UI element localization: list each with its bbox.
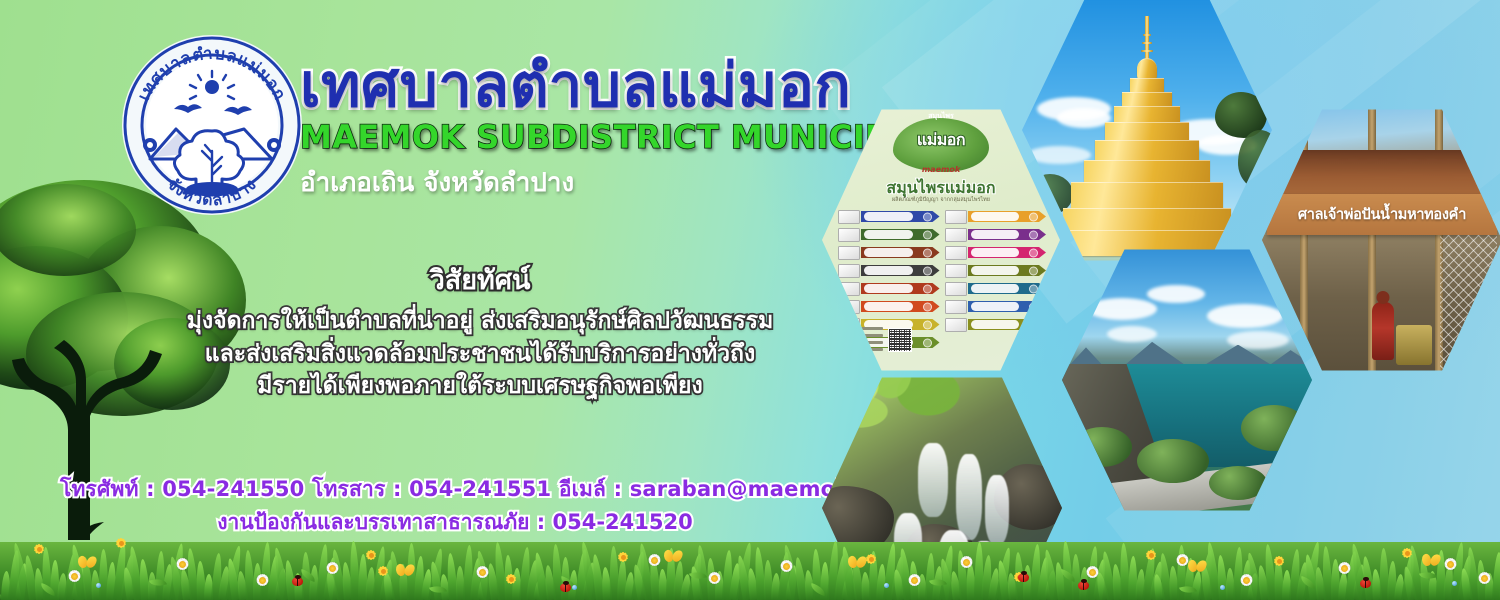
grass-blade xyxy=(1198,550,1215,600)
herb-product-box-icon xyxy=(945,300,967,314)
grass-blade xyxy=(519,547,532,600)
grass-blade xyxy=(1042,549,1060,600)
herb-product-item xyxy=(945,263,1047,278)
grass-blade xyxy=(1168,566,1179,600)
yellow-flower xyxy=(500,568,522,590)
grass-blade xyxy=(1387,561,1397,600)
grass-blade xyxy=(1247,573,1260,600)
grass-blade xyxy=(11,542,31,600)
grass-blade xyxy=(666,548,676,600)
grass-blade xyxy=(272,547,290,600)
shrine-sign-board: ศาลเจ้าพ่อปันน้ำมหาทองคำ xyxy=(1267,194,1497,235)
grass-blade xyxy=(609,546,619,600)
grass-blade xyxy=(1274,557,1284,600)
pagoda-caption-line-3: อำเภอ xyxy=(1236,38,1268,52)
herb-product-box-icon xyxy=(945,210,967,224)
grass-blade xyxy=(568,570,579,600)
grass-blade xyxy=(785,565,799,600)
grass-blade xyxy=(1394,574,1405,600)
grass-blade xyxy=(811,549,822,600)
grass-blade xyxy=(1459,568,1473,600)
herb-product-bar xyxy=(968,247,1047,258)
grass-blade xyxy=(196,561,206,600)
grass-blade xyxy=(41,547,52,600)
grass-blade xyxy=(1037,557,1050,600)
grass-blade xyxy=(283,560,297,600)
grass-blade xyxy=(211,553,223,600)
grass-blade xyxy=(236,571,248,600)
grass-blade xyxy=(138,559,150,600)
grass-blade xyxy=(1053,562,1067,600)
contact-phone-fax-email[interactable]: โทรศัพท์ : 054-241550 โทรสาร : 054-24155… xyxy=(60,473,850,506)
grass-blade xyxy=(475,550,493,600)
herb-product-box-icon xyxy=(945,318,967,332)
qr-code-icon[interactable] xyxy=(888,328,912,352)
grass-blade xyxy=(1371,569,1382,600)
pagoda-caption-line-1: วัดท xyxy=(1236,0,1268,23)
grass-blade xyxy=(99,549,108,600)
grass-blade xyxy=(414,556,425,600)
grass-blade xyxy=(1149,561,1165,600)
herb-product-item xyxy=(945,317,1047,332)
grass-blade xyxy=(204,574,213,600)
grass-blade xyxy=(477,571,490,600)
herb-brand-small: สมุนไพร xyxy=(893,111,989,122)
grass-blade xyxy=(90,570,101,600)
grass-leaf xyxy=(1299,576,1317,589)
daisy-flower xyxy=(1168,546,1196,574)
herb-product-box-icon xyxy=(945,282,967,296)
vision-line-1: มุ่งจัดการให้เป็นตำบลที่น่าอยู่ ส่งเสริม… xyxy=(150,305,810,338)
grass-blade xyxy=(1492,552,1500,600)
grass-blade xyxy=(1361,556,1375,600)
yellow-flower xyxy=(612,546,634,568)
herb-product-bar xyxy=(861,301,940,312)
grass-blade xyxy=(1111,564,1123,600)
grass-blade xyxy=(526,560,540,600)
grass-blade xyxy=(1450,542,1466,600)
grass-blade xyxy=(803,570,815,600)
hex-reservoir-dam-photo[interactable] xyxy=(1062,244,1312,516)
grass-blade xyxy=(1457,555,1474,600)
grass-blade xyxy=(1225,568,1235,600)
herb-product-item xyxy=(945,299,1047,314)
grass-blade xyxy=(127,546,143,600)
grass-blade xyxy=(8,550,21,600)
ladybug-icon xyxy=(1360,579,1371,588)
grass-blade xyxy=(648,556,661,600)
grass-blade xyxy=(658,569,668,600)
grass-blade xyxy=(486,563,500,600)
grass-blade xyxy=(1314,567,1326,600)
grass-blade xyxy=(1095,572,1109,600)
herb-product-box-icon xyxy=(838,228,860,242)
grass-blade xyxy=(1428,571,1438,600)
herb-product-box-icon xyxy=(838,336,860,350)
grass-blade xyxy=(0,591,3,600)
grass-leaf xyxy=(299,569,317,582)
grass-blade xyxy=(722,550,734,600)
grass-blade xyxy=(533,552,549,600)
grass-leaf xyxy=(39,583,57,596)
grass-blade xyxy=(1379,548,1389,600)
grass-leaf xyxy=(429,583,447,597)
grass-blade xyxy=(106,562,117,600)
grass-blade xyxy=(1079,567,1089,600)
grass-blade xyxy=(781,544,801,600)
grass-blade xyxy=(689,566,703,600)
grass-blade xyxy=(225,558,240,600)
herb-product-bar xyxy=(968,265,1047,276)
grass-blade xyxy=(439,574,451,600)
grass-blade xyxy=(637,543,654,600)
grass-blade xyxy=(1142,548,1157,600)
daisy-flower xyxy=(640,546,668,574)
grass-blade xyxy=(1061,541,1074,600)
grass-blade xyxy=(1,571,11,600)
grass-blade xyxy=(1177,545,1186,600)
grass-blade xyxy=(365,567,376,600)
grass-blade xyxy=(624,572,635,600)
grass-blade xyxy=(778,552,791,600)
grass-blade xyxy=(71,565,86,600)
grass-blade xyxy=(428,561,444,600)
grass-blade xyxy=(1282,570,1292,600)
grass-blade xyxy=(706,558,717,600)
grass-blade xyxy=(1349,543,1368,600)
herb-product-bar xyxy=(861,247,940,258)
grass-blade xyxy=(729,563,742,600)
herb-brand-thai: แม่มอก xyxy=(893,128,989,153)
grass-blade xyxy=(631,564,647,600)
grass-blade xyxy=(121,567,136,600)
contact-block: โทรศัพท์ : 054-241550 โทรสาร : 054-24155… xyxy=(60,473,850,538)
herb-product-box-icon xyxy=(838,318,860,332)
shrine-sign-text: ศาลเจ้าพ่อปันน้ำมหาทองคำ xyxy=(1298,203,1466,226)
grass-blade xyxy=(323,557,338,600)
grass-blade xyxy=(1216,555,1228,600)
herb-product-bar xyxy=(968,283,1047,294)
grass-blade xyxy=(1296,562,1310,600)
grass-leaf xyxy=(1179,583,1197,597)
municipality-banner: เทศบาลตำบลแม่มอก จังหวัดลำปาง เทศบาลตำบล… xyxy=(0,0,1500,600)
herb-poster-subtitle: ผลิตภัณฑ์ภูมิปัญญา จากกลุ่มสมุนไพรไทย xyxy=(822,196,1060,204)
grass-blade xyxy=(293,573,304,600)
grass-leaf xyxy=(1059,569,1077,582)
herb-product-box-icon xyxy=(838,246,860,260)
grass-blade xyxy=(69,544,87,600)
herb-product-box-icon xyxy=(838,300,860,314)
herb-product-item xyxy=(945,281,1047,296)
vision-line-2: และส่งเสริมสิ่งแวดล้อมประชาชนได้รับบริกา… xyxy=(150,338,810,371)
grass-blade xyxy=(1331,559,1340,600)
grass-blade xyxy=(1485,573,1494,600)
vision-heading: วิสัยทัศน์ xyxy=(150,258,810,301)
grass-blade xyxy=(330,549,346,600)
grass-blade xyxy=(1086,546,1100,600)
municipal-seal-logo: เทศบาลตำบลแม่มอก จังหวัดลำปาง xyxy=(120,33,304,217)
daisy-flower xyxy=(772,552,800,580)
herb-product-bar xyxy=(861,283,940,294)
grass-blade xyxy=(715,571,724,600)
daisy-flower xyxy=(1232,566,1260,594)
grass-blade xyxy=(1240,560,1252,600)
herb-product-item xyxy=(838,263,940,278)
yellow-flower xyxy=(360,544,382,566)
grass-blade xyxy=(561,557,570,600)
grass-blade xyxy=(1128,556,1138,600)
daisy-flower xyxy=(700,564,728,592)
grass-blade xyxy=(763,560,773,600)
grass-blade xyxy=(57,573,68,600)
grass-blade xyxy=(155,551,166,600)
grass-blade xyxy=(349,541,360,600)
grass-blade xyxy=(1135,569,1146,600)
daisy-flower xyxy=(60,562,88,590)
grass-blade xyxy=(680,574,692,600)
grass-blade xyxy=(582,562,597,600)
grass-blade xyxy=(274,568,288,600)
daisy-flower xyxy=(1470,564,1498,592)
ladybug-icon xyxy=(1078,581,1089,590)
grass-blade xyxy=(1436,550,1446,600)
herb-product-item xyxy=(945,209,1047,224)
grass-blade xyxy=(601,567,612,600)
grass-blade xyxy=(185,548,198,600)
grass-blade xyxy=(1303,554,1319,600)
grass-blade xyxy=(533,573,547,600)
herb-product-box-icon xyxy=(838,210,860,224)
vision-block: วิสัยทัศน์ มุ่งจัดการให้เป็นตำบลที่น่าอย… xyxy=(150,258,810,403)
herb-product-item xyxy=(945,245,1047,260)
grass-blade xyxy=(398,564,409,600)
grass-blade xyxy=(503,555,514,600)
grass-blade xyxy=(1407,545,1424,600)
grass-blade xyxy=(1321,546,1333,600)
grass-blade xyxy=(1345,551,1359,600)
ladybug-icon xyxy=(560,583,571,592)
grass-blade xyxy=(15,563,29,600)
grass-blade xyxy=(50,560,60,600)
ladybug-icon xyxy=(292,577,303,586)
yellow-flower xyxy=(1140,544,1162,566)
grass-blade xyxy=(590,554,605,600)
grass-blade xyxy=(1233,547,1244,600)
grass-blade xyxy=(820,562,830,600)
grass-blade xyxy=(1418,558,1431,600)
daisy-flower xyxy=(168,550,196,578)
grass-blade xyxy=(1152,574,1165,600)
grass-blade xyxy=(470,558,483,600)
grass-blade xyxy=(746,568,759,600)
grass-blade xyxy=(1443,563,1455,600)
grass-blade xyxy=(1476,560,1487,600)
contact-emergency[interactable]: งานป้องกันและบรรเทาสาธารณภัย : 054-24152… xyxy=(60,506,850,539)
herb-product-item xyxy=(838,299,940,314)
grass-blade xyxy=(1044,570,1058,600)
herb-product-bar xyxy=(968,319,1047,330)
grass-blade xyxy=(341,562,353,600)
herb-product-bar xyxy=(968,229,1047,240)
grass-blade xyxy=(1245,552,1263,600)
grass-blade xyxy=(1263,544,1277,600)
grass-blade xyxy=(1352,564,1367,600)
grass-leaf xyxy=(1419,569,1437,583)
herb-product-box-icon xyxy=(945,228,967,242)
grass-blade xyxy=(253,563,262,600)
grass-blade xyxy=(23,555,38,600)
grass-blade xyxy=(631,551,647,600)
organization-title-thai: เทศบาลตำบลแม่มอก xyxy=(300,56,960,117)
yellow-flower xyxy=(372,560,394,582)
grass-blade xyxy=(771,573,781,600)
grass-blade xyxy=(382,572,395,600)
grass-blade xyxy=(421,569,433,600)
hex-spirit-shrine-photo[interactable]: ศาลเจ้าพ่อปันน้ำมหาทองคำ xyxy=(1262,104,1500,376)
grass-blade xyxy=(512,568,522,600)
grass-leaf xyxy=(149,576,167,590)
grass-blade xyxy=(316,544,330,600)
grass-blade xyxy=(551,544,563,600)
herb-product-box-icon xyxy=(945,264,967,278)
herb-product-box-icon xyxy=(838,264,860,278)
herb-poster-footer xyxy=(850,326,912,352)
grass-blade xyxy=(753,547,766,600)
vision-line-3: มีรายได้เพียงพอภายใต้ระบบเศรษฐกิจพอเพียง xyxy=(150,370,810,403)
grass-blade xyxy=(673,561,685,600)
herb-product-bar xyxy=(968,301,1047,312)
yellow-flower xyxy=(28,538,50,560)
dew-drop xyxy=(96,583,101,588)
grass-blade xyxy=(225,545,243,600)
grass-blade xyxy=(1100,551,1116,600)
grass-blade xyxy=(407,543,416,600)
grass-leaf xyxy=(809,583,827,596)
dew-drop xyxy=(1220,585,1225,590)
grass-blade xyxy=(455,566,465,600)
daisy-flower xyxy=(468,558,496,586)
yellow-flower xyxy=(1268,550,1290,572)
grass-blade xyxy=(120,554,136,600)
grass-blade xyxy=(793,557,808,600)
grass-blade xyxy=(463,545,474,600)
grass-blade xyxy=(243,550,255,600)
hex-golden-pagoda-photo[interactable]: วัดท บ้านกุ่ม อำเภอ xyxy=(1022,0,1272,266)
yellow-flower xyxy=(1396,542,1418,564)
daisy-flower xyxy=(1330,554,1358,582)
grass-blade xyxy=(324,570,339,600)
organization-title-english: MAEMOK SUBDISTRICT MUNICIPALITY xyxy=(300,118,960,156)
herb-product-bar xyxy=(861,265,940,276)
herb-product-item xyxy=(838,209,940,224)
dew-drop xyxy=(1452,581,1457,586)
hex-waterfall-photo[interactable] xyxy=(822,372,1062,600)
herb-product-bar xyxy=(861,229,940,240)
daisy-flower xyxy=(248,566,276,594)
daisy-flower xyxy=(1078,558,1106,586)
grass-blade xyxy=(579,541,598,600)
grass-blade xyxy=(162,564,174,600)
grass-blade xyxy=(1199,563,1214,600)
herb-product-box-icon xyxy=(945,246,967,260)
herb-product-item xyxy=(838,227,940,242)
grass-blade xyxy=(267,555,281,600)
grass-blade xyxy=(1093,559,1108,600)
grass-blade xyxy=(1184,558,1195,600)
herb-product-item xyxy=(838,245,940,260)
pagoda-caption: วัดท บ้านกุ่ม อำเภอ xyxy=(1236,0,1268,52)
grass-blade xyxy=(1256,565,1270,600)
grass-blade xyxy=(827,541,840,600)
grass-blade xyxy=(1402,566,1417,600)
grass-blade xyxy=(1303,541,1322,600)
grass-blade xyxy=(388,551,402,600)
grass-blade xyxy=(113,541,128,600)
grass-blade xyxy=(1289,549,1302,600)
dew-drop xyxy=(572,585,577,590)
grass-blade xyxy=(179,569,192,600)
grass-blade xyxy=(64,552,79,600)
grass-blade xyxy=(372,546,388,600)
grass-blade xyxy=(543,565,556,600)
grass-blade xyxy=(358,554,368,600)
grass-blade xyxy=(218,566,231,600)
grass-blade xyxy=(736,542,754,600)
grass-blade xyxy=(260,542,272,600)
grass-blade xyxy=(1191,571,1203,600)
grass-blade xyxy=(148,572,157,600)
grass-blade xyxy=(168,556,185,600)
grass-blade xyxy=(575,549,589,600)
herb-product-bar xyxy=(861,211,940,222)
grass-blade xyxy=(617,559,627,600)
grass-blade xyxy=(1465,547,1479,600)
herb-product-item xyxy=(945,227,1047,242)
herb-product-bar xyxy=(968,211,1047,222)
herb-product-box-icon xyxy=(838,282,860,296)
herb-brand-english: maemok xyxy=(893,165,989,174)
grass-blade xyxy=(33,568,45,600)
grass-blade xyxy=(695,545,710,600)
grass-blade xyxy=(735,555,752,600)
grass-blade xyxy=(1401,553,1416,600)
herb-product-item xyxy=(838,281,940,296)
grass-blade xyxy=(1338,572,1348,600)
daisy-flower xyxy=(1436,550,1464,578)
grass-leaf xyxy=(689,569,707,583)
grass-blade xyxy=(428,548,445,600)
grass-blade xyxy=(687,553,704,600)
grass-blade xyxy=(309,565,319,600)
grass-blade xyxy=(1119,543,1130,600)
grass-blade xyxy=(1158,553,1172,600)
grass-blade xyxy=(446,553,458,600)
grass-blade xyxy=(1205,542,1221,600)
grass-blade xyxy=(81,557,94,600)
grass-blade xyxy=(493,542,507,600)
pagoda-caption-line-2: บ้านกุ่ม xyxy=(1236,23,1268,38)
grass-blade xyxy=(1071,554,1081,600)
grass-blade xyxy=(379,559,395,600)
grass-blade xyxy=(169,543,186,600)
daisy-flower xyxy=(318,554,346,582)
grass-blade xyxy=(301,552,311,600)
grass-leaf xyxy=(559,576,577,589)
